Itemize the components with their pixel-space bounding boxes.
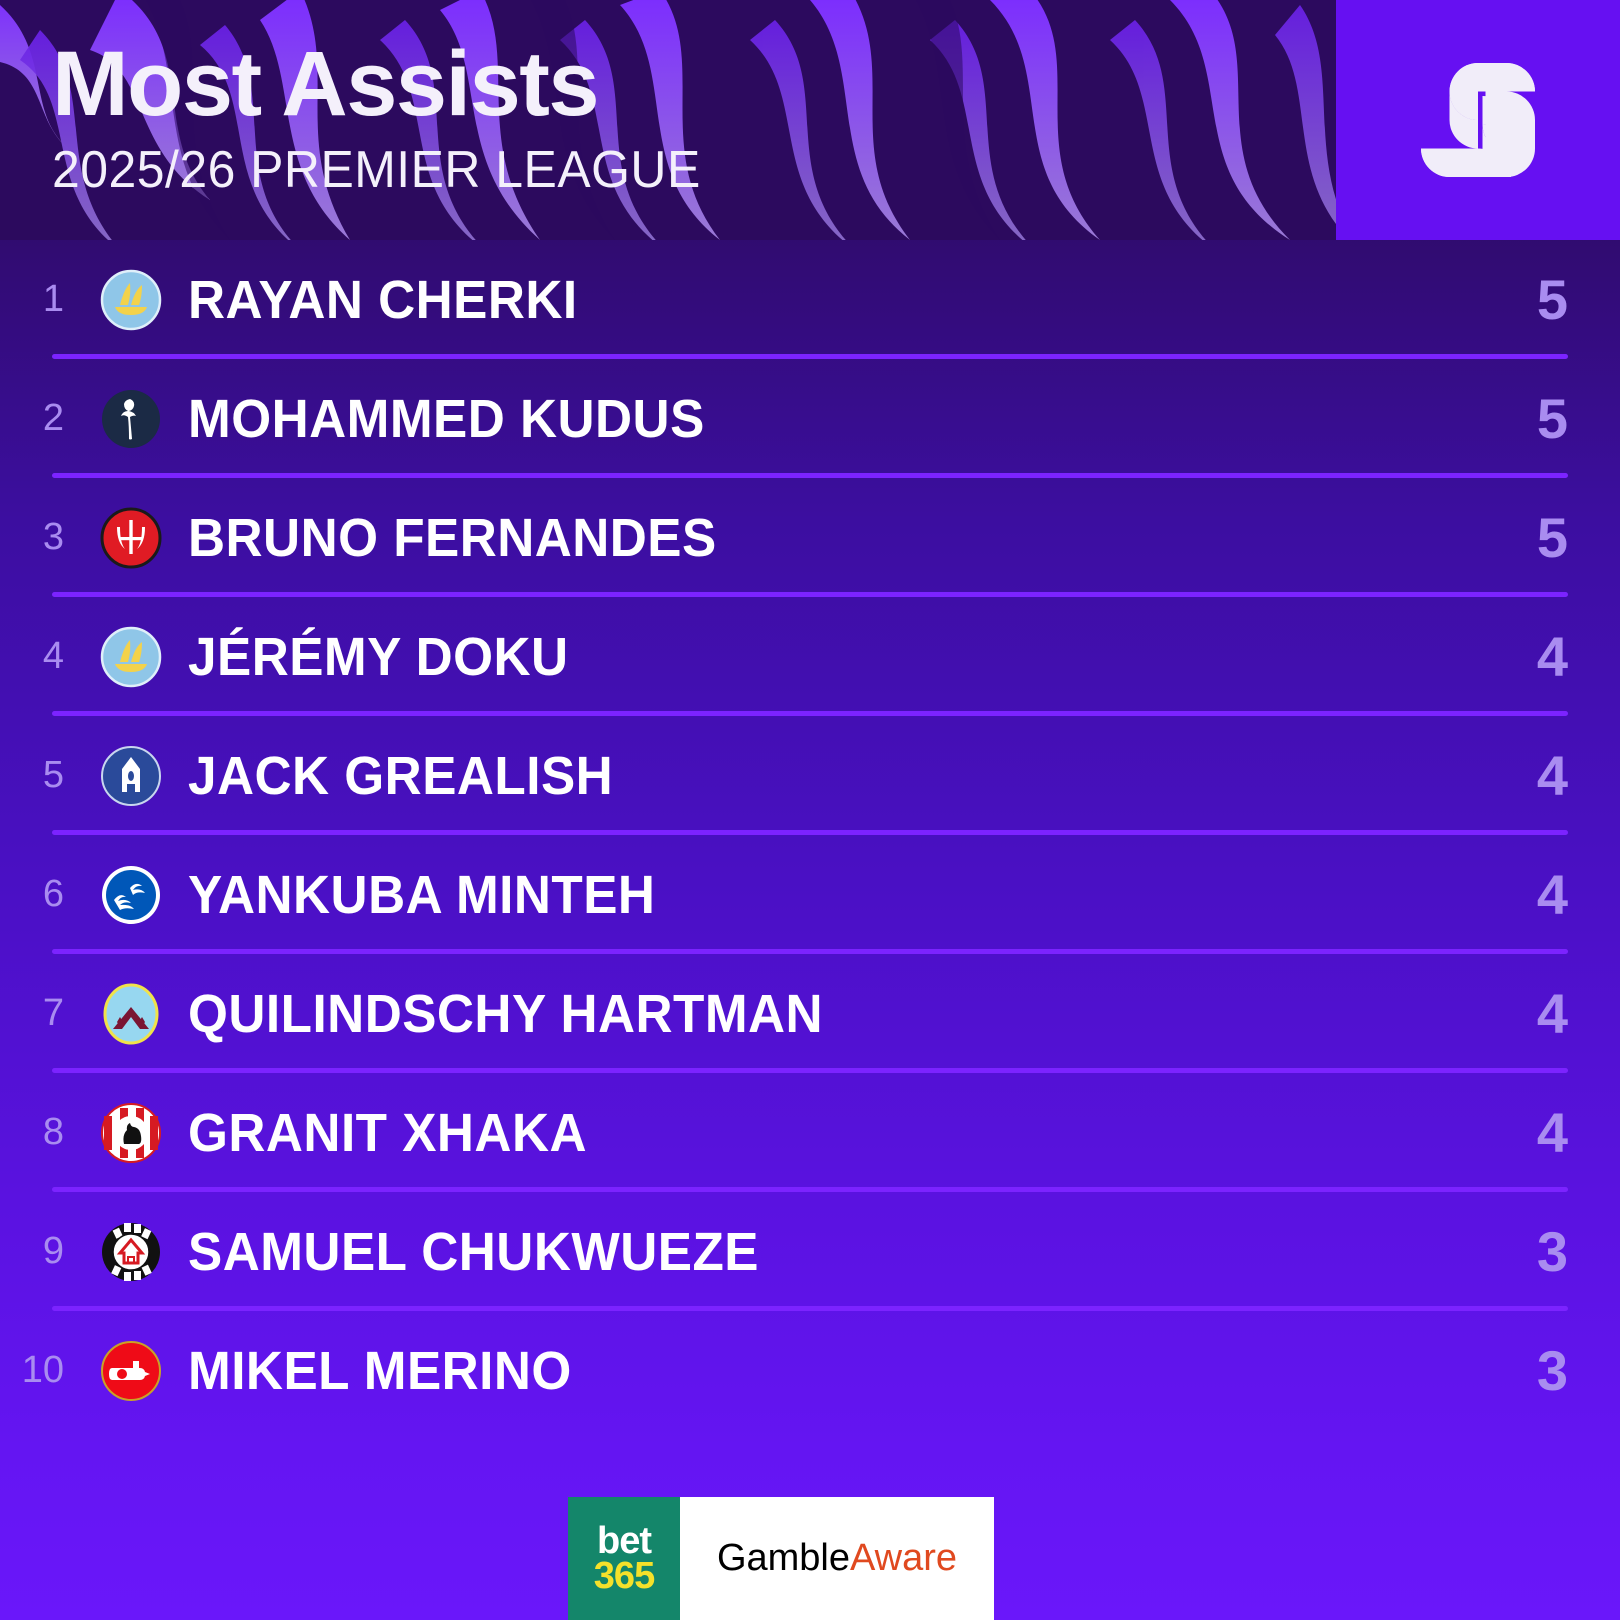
table-row[interactable]: 7QUILINDSCHY HARTMAN4 — [0, 954, 1620, 1073]
man-city-badge — [100, 626, 162, 688]
rank-number: 10 — [0, 1349, 78, 1392]
man-city-badge — [100, 269, 162, 331]
player-name: BRUNO FERNANDES — [188, 507, 1396, 569]
page-title: Most Assists — [52, 38, 728, 130]
table-row[interactable]: 4JÉRÉMY DOKU4 — [0, 597, 1620, 716]
player-name: YANKUBA MINTEH — [188, 864, 1396, 926]
brighton-badge — [100, 864, 162, 926]
gambleaware-part1: Gamble — [717, 1537, 850, 1580]
sofascore-logo-icon — [1403, 45, 1553, 195]
gambleaware-part2: Aware — [850, 1537, 957, 1580]
bet365-logo-line1: bet — [597, 1524, 651, 1559]
player-name: SAMUEL CHUKWUEZE — [188, 1221, 1396, 1283]
assist-count: 5 — [1460, 505, 1620, 570]
assist-count: 4 — [1460, 862, 1620, 927]
tottenham-badge — [100, 388, 162, 450]
man-utd-badge — [100, 507, 162, 569]
assist-count: 5 — [1460, 386, 1620, 451]
page-subtitle: 2025/26 PREMIER LEAGUE — [52, 144, 701, 196]
player-name: JACK GREALISH — [188, 745, 1396, 807]
player-name: JÉRÉMY DOKU — [188, 626, 1396, 688]
player-name: MIKEL MERINO — [188, 1340, 1396, 1402]
player-name: QUILINDSCHY HARTMAN — [188, 983, 1396, 1045]
header: Most Assists 2025/26 PREMIER LEAGUE — [0, 0, 1620, 240]
arsenal-badge — [100, 1340, 162, 1402]
header-text-block: Most Assists 2025/26 PREMIER LEAGUE — [52, 38, 728, 196]
assist-count: 5 — [1460, 267, 1620, 332]
table-row[interactable]: 6YANKUBA MINTEH4 — [0, 835, 1620, 954]
rank-number: 4 — [0, 635, 78, 678]
assist-count: 3 — [1460, 1219, 1620, 1284]
player-name: GRANIT XHAKA — [188, 1102, 1396, 1164]
rank-number: 5 — [0, 754, 78, 797]
rank-number: 3 — [0, 516, 78, 559]
assist-count: 4 — [1460, 981, 1620, 1046]
fulham-badge — [100, 1221, 162, 1283]
table-row[interactable]: 1RAYAN CHERKI5 — [0, 240, 1620, 359]
assist-count: 4 — [1460, 743, 1620, 808]
sunderland-badge — [100, 1102, 162, 1164]
gambleaware-logo[interactable]: GambleAware — [680, 1497, 994, 1620]
assist-count: 3 — [1460, 1338, 1620, 1403]
rank-number: 1 — [0, 278, 78, 321]
rank-number: 2 — [0, 397, 78, 440]
most-assists-infographic: Most Assists 2025/26 PREMIER LEAGUE 1RAY… — [0, 0, 1620, 1620]
table-row[interactable]: 8GRANIT XHAKA4 — [0, 1073, 1620, 1192]
assist-count: 4 — [1460, 1100, 1620, 1165]
table-row[interactable]: 2MOHAMMED KUDUS5 — [0, 359, 1620, 478]
sponsor-bar: bet 365 GambleAware — [568, 1497, 994, 1620]
bet365-logo-line2: 365 — [594, 1559, 654, 1594]
assist-count: 4 — [1460, 624, 1620, 689]
player-name: RAYAN CHERKI — [188, 269, 1396, 331]
bet365-logo[interactable]: bet 365 — [568, 1497, 680, 1620]
player-name: MOHAMMED KUDUS — [188, 388, 1396, 450]
rank-number: 9 — [0, 1230, 78, 1273]
rank-number: 7 — [0, 992, 78, 1035]
table-row[interactable]: 9SAMUEL CHUKWUEZE3 — [0, 1192, 1620, 1311]
everton-badge — [100, 745, 162, 807]
sofascore-logo-panel — [1336, 0, 1620, 240]
table-row[interactable]: 10MIKEL MERINO3 — [0, 1311, 1620, 1430]
leaderboard-list: 1RAYAN CHERKI52MOHAMMED KUDUS53BRUNO FER… — [0, 240, 1620, 1430]
rank-number: 6 — [0, 873, 78, 916]
table-row[interactable]: 5JACK GREALISH4 — [0, 716, 1620, 835]
table-row[interactable]: 3BRUNO FERNANDES5 — [0, 478, 1620, 597]
rank-number: 8 — [0, 1111, 78, 1154]
burnley-badge — [100, 983, 162, 1045]
